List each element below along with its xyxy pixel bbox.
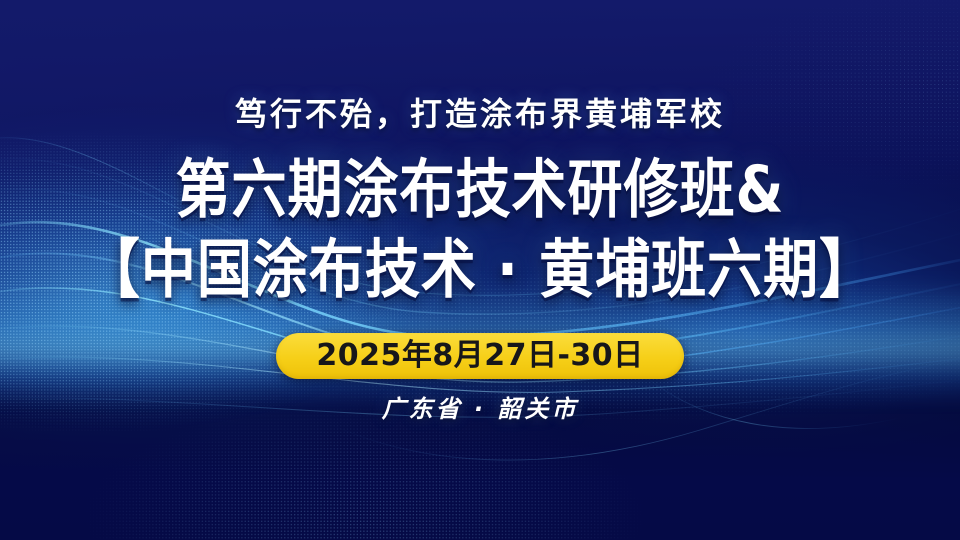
location-label: 广东省 · 韶关市 (382, 397, 579, 421)
date-badge-label: 2025年8月27日-30日 (316, 341, 643, 371)
tagline: 笃行不殆，打造涂布界黄埔军校 (235, 98, 725, 130)
date-badge: 2025年8月27日-30日 (276, 333, 684, 379)
title-line-1: 第六期涂布技术研修班& (0, 156, 960, 224)
event-poster-banner: 笃行不殆，打造涂布界黄埔军校 第六期涂布技术研修班& 【中国涂布技术 · 黄埔班… (0, 0, 960, 540)
poster-content: 笃行不殆，打造涂布界黄埔军校 第六期涂布技术研修班& 【中国涂布技术 · 黄埔班… (0, 0, 960, 540)
poster-title: 第六期涂布技术研修班& 【中国涂布技术 · 黄埔班六期】 (0, 156, 960, 295)
title-line-2: 【中国涂布技术 · 黄埔班六期】 (0, 236, 960, 304)
